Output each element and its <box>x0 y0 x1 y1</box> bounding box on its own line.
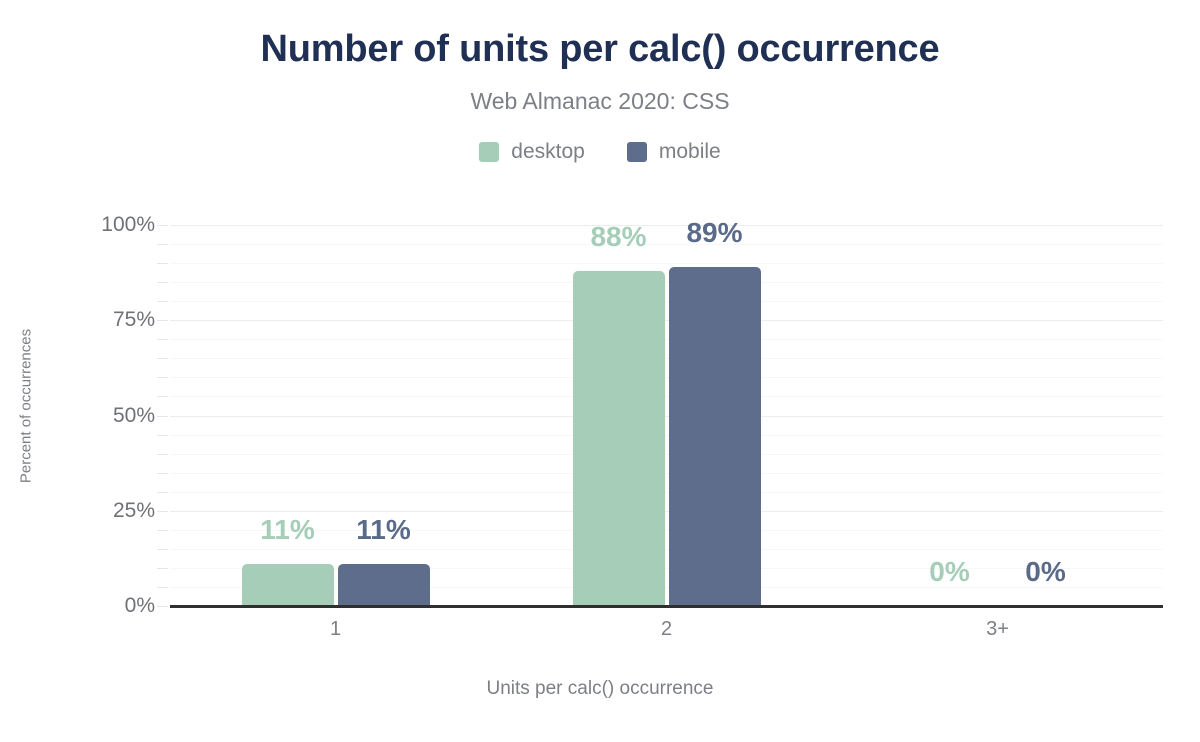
y-tick-label: 50% <box>113 404 155 428</box>
x-axis-line <box>170 605 1163 608</box>
gridline-minor <box>170 492 1163 493</box>
y-tick-label: 25% <box>113 499 155 523</box>
gridline-minor <box>170 282 1163 283</box>
y-axis-ticks: 0%25%50%75%100% <box>0 206 155 606</box>
bar-label-mobile-1: 11% <box>356 516 411 544</box>
y-tick-mark <box>157 225 168 226</box>
gridline-major <box>170 225 1163 226</box>
y-tick-mark <box>157 320 168 321</box>
bar-label-mobile-3+: 0% <box>1025 558 1065 586</box>
y-tick-mark <box>157 587 168 588</box>
y-tick-mark <box>157 454 168 455</box>
gridline-minor <box>170 244 1163 245</box>
y-tick-mark <box>157 396 168 397</box>
gridline-minor <box>170 473 1163 474</box>
gridline-major <box>170 320 1163 321</box>
legend-item-desktop[interactable]: desktop <box>479 141 585 162</box>
y-tick-mark <box>157 339 168 340</box>
chart-legend: desktop mobile <box>0 141 1200 162</box>
y-tick-mark <box>157 416 168 417</box>
gridline-minor <box>170 301 1163 302</box>
y-tick-mark <box>157 530 168 531</box>
bar-mobile-2[interactable] <box>669 267 761 606</box>
gridline-minor <box>170 435 1163 436</box>
x-tick-label: 3+ <box>986 618 1009 641</box>
legend-label-desktop: desktop <box>511 141 585 162</box>
y-tick-label: 100% <box>101 213 155 237</box>
bar-label-mobile-2: 89% <box>686 219 742 247</box>
legend-item-mobile[interactable]: mobile <box>627 141 721 162</box>
y-tick-mark <box>157 606 168 607</box>
y-tick-mark <box>157 492 168 493</box>
y-tick-mark <box>157 301 168 302</box>
bar-label-desktop-1: 11% <box>260 516 315 544</box>
y-tick-mark <box>157 473 168 474</box>
gridline-minor <box>170 530 1163 531</box>
x-axis-title: Units per calc() occurrence <box>0 678 1200 700</box>
y-tick-mark <box>157 549 168 550</box>
bar-label-desktop-3+: 0% <box>929 558 969 586</box>
y-tick-mark <box>157 435 168 436</box>
x-tick-label: 2 <box>661 618 672 641</box>
bar-label-desktop-2: 88% <box>590 223 646 251</box>
gridline-minor <box>170 549 1163 550</box>
chart-subtitle: Web Almanac 2020: CSS <box>0 88 1200 115</box>
y-tick-mark <box>157 568 168 569</box>
y-tick-mark <box>157 244 168 245</box>
plot-area: 11%11%88%89%0%0% <box>170 206 1163 606</box>
gridline-minor <box>170 396 1163 397</box>
gridline-minor <box>170 454 1163 455</box>
legend-label-mobile: mobile <box>659 141 721 162</box>
legend-swatch-mobile <box>627 142 647 162</box>
y-tick-mark <box>157 511 168 512</box>
gridline-minor <box>170 377 1163 378</box>
page-title: Number of units per calc() occurrence <box>0 28 1200 72</box>
gridline-minor <box>170 263 1163 264</box>
x-tick-label: 1 <box>330 618 341 641</box>
gridline-minor <box>170 339 1163 340</box>
y-tick-label: 0% <box>125 594 155 618</box>
bar-chart: Number of units per calc() occurrence We… <box>0 0 1200 742</box>
gridline-minor <box>170 358 1163 359</box>
y-tick-label: 75% <box>113 308 155 332</box>
y-tick-mark <box>157 263 168 264</box>
y-tick-mark <box>157 282 168 283</box>
bar-desktop-1[interactable] <box>242 564 334 606</box>
gridline-major <box>170 511 1163 512</box>
gridline-major <box>170 416 1163 417</box>
y-tick-mark <box>157 358 168 359</box>
legend-swatch-desktop <box>479 142 499 162</box>
y-tick-mark <box>157 377 168 378</box>
bar-mobile-1[interactable] <box>338 564 430 606</box>
bar-desktop-2[interactable] <box>573 271 665 606</box>
